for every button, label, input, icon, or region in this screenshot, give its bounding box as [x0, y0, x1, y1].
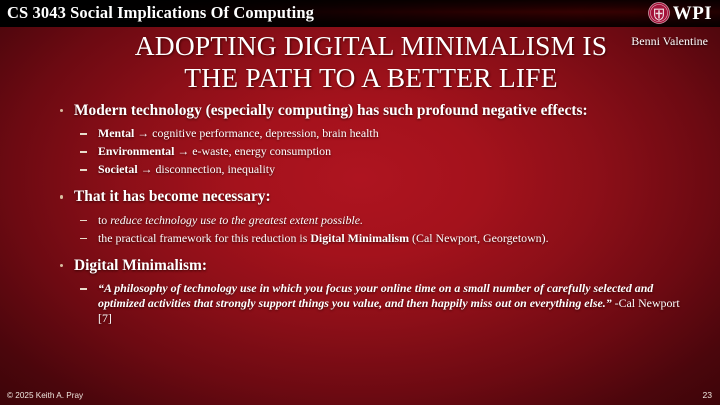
slide-title-line-2: THE PATH TO A BETTER LIFE: [40, 62, 702, 94]
slide-title-line-1: ADOPTING DIGITAL MINIMALISM IS: [40, 30, 702, 62]
wpi-seal-icon: [648, 2, 670, 24]
bullet-2: That it has become necessary:: [58, 188, 686, 206]
sub-label-environmental: Environmental: [98, 144, 174, 158]
bullet-1-sub-3: Societal → disconnection, inequality: [78, 162, 690, 177]
bullet-2-sub-1-italic: reduce technology use to the greatest ex…: [110, 213, 363, 227]
sub-label-mental: Mental: [98, 126, 134, 140]
bullet-2-sub-2: the practical framework for this reducti…: [78, 231, 690, 246]
bullet-1: Modern technology (especially computing)…: [58, 102, 686, 120]
slide-title: ADOPTING DIGITAL MINIMALISM IS THE PATH …: [40, 30, 702, 94]
bullet-2-sub-1-plain: to: [98, 213, 110, 227]
bullet-2-sub-2-suffix: (Cal Newport, Georgetown).: [409, 231, 548, 245]
course-title: CS 3043 Social Implications Of Computing: [7, 3, 314, 23]
spacer: [0, 246, 720, 257]
arrow-glyph-icon: →: [134, 126, 152, 140]
sub-text-environmental: e-waste, energy consumption: [192, 144, 331, 158]
slide-body: Modern technology (especially computing)…: [0, 102, 720, 326]
bullet-3: Digital Minimalism:: [58, 257, 686, 275]
bullet-1-sub-1: Mental → cognitive performance, depressi…: [78, 126, 690, 141]
arrow-glyph-icon: →: [138, 162, 156, 176]
arrow-glyph-icon: →: [174, 144, 192, 158]
author-name: Benni Valentine: [631, 34, 708, 49]
slide-canvas: CS 3043 Social Implications Of Computing…: [0, 0, 720, 405]
footer-page-number: 23: [702, 390, 712, 400]
bullet-1-sub-2: Environmental → e-waste, energy consumpt…: [78, 144, 690, 159]
newport-quote: “A philosophy of technology use in which…: [98, 281, 653, 310]
bullet-3-sub-1: “A philosophy of technology use in which…: [78, 281, 690, 326]
spacer: [0, 177, 720, 188]
sub-text-societal: disconnection, inequality: [155, 162, 275, 176]
bullet-2-sub-1: to reduce technology use to the greatest…: [78, 213, 690, 228]
bullet-2-sub-2-term: Digital Minimalism: [310, 231, 409, 245]
footer-copyright: © 2025 Keith A. Pray: [7, 391, 83, 400]
wpi-wordmark: WPI: [673, 4, 712, 23]
bullet-2-sub-2-prefix: the practical framework for this reducti…: [98, 231, 310, 245]
sub-text-mental: cognitive performance, depression, brain…: [152, 126, 379, 140]
wpi-logo: WPI: [648, 2, 712, 24]
sub-label-societal: Societal: [98, 162, 138, 176]
